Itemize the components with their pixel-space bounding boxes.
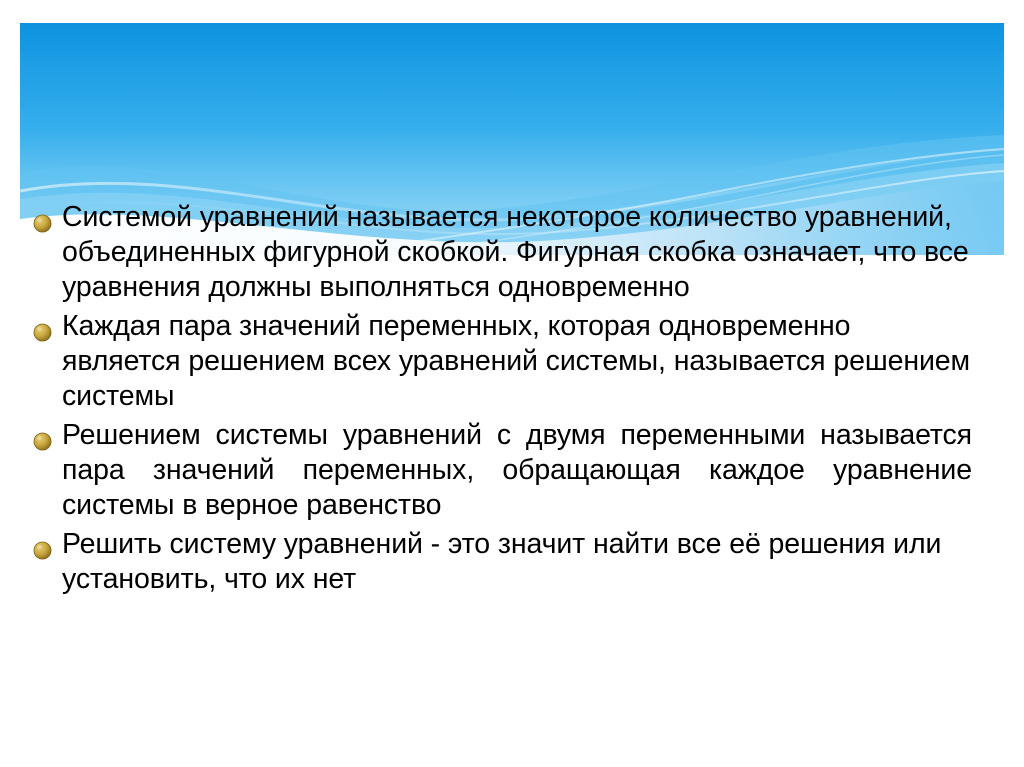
bullet-marker <box>22 418 62 451</box>
bullet-marker <box>22 309 62 342</box>
list-item: Решением системы уравнений с двумя перем… <box>22 418 982 523</box>
list-item: Решить систему уравнений - это значит на… <box>22 527 982 597</box>
slide: Системой уравнений называется некоторое … <box>0 0 1024 767</box>
bullet-marker <box>22 527 62 560</box>
list-item: Системой уравнений называется некоторое … <box>22 200 982 305</box>
bullet-sphere-icon <box>33 323 52 342</box>
list-item: Каждая пара значений переменных, которая… <box>22 309 982 414</box>
bullet-marker <box>22 200 62 233</box>
list-item-text: Решением системы уравнений с двумя перем… <box>62 418 982 523</box>
bullet-list: Системой уравнений называется некоторое … <box>22 200 982 601</box>
list-item-text: Каждая пара значений переменных, которая… <box>62 309 982 414</box>
list-item-text: Решить систему уравнений - это значит на… <box>62 527 982 597</box>
bullet-sphere-icon <box>33 541 52 560</box>
list-item-text: Системой уравнений называется некоторое … <box>62 200 982 305</box>
bullet-sphere-icon <box>33 432 52 451</box>
bullet-sphere-icon <box>33 214 52 233</box>
